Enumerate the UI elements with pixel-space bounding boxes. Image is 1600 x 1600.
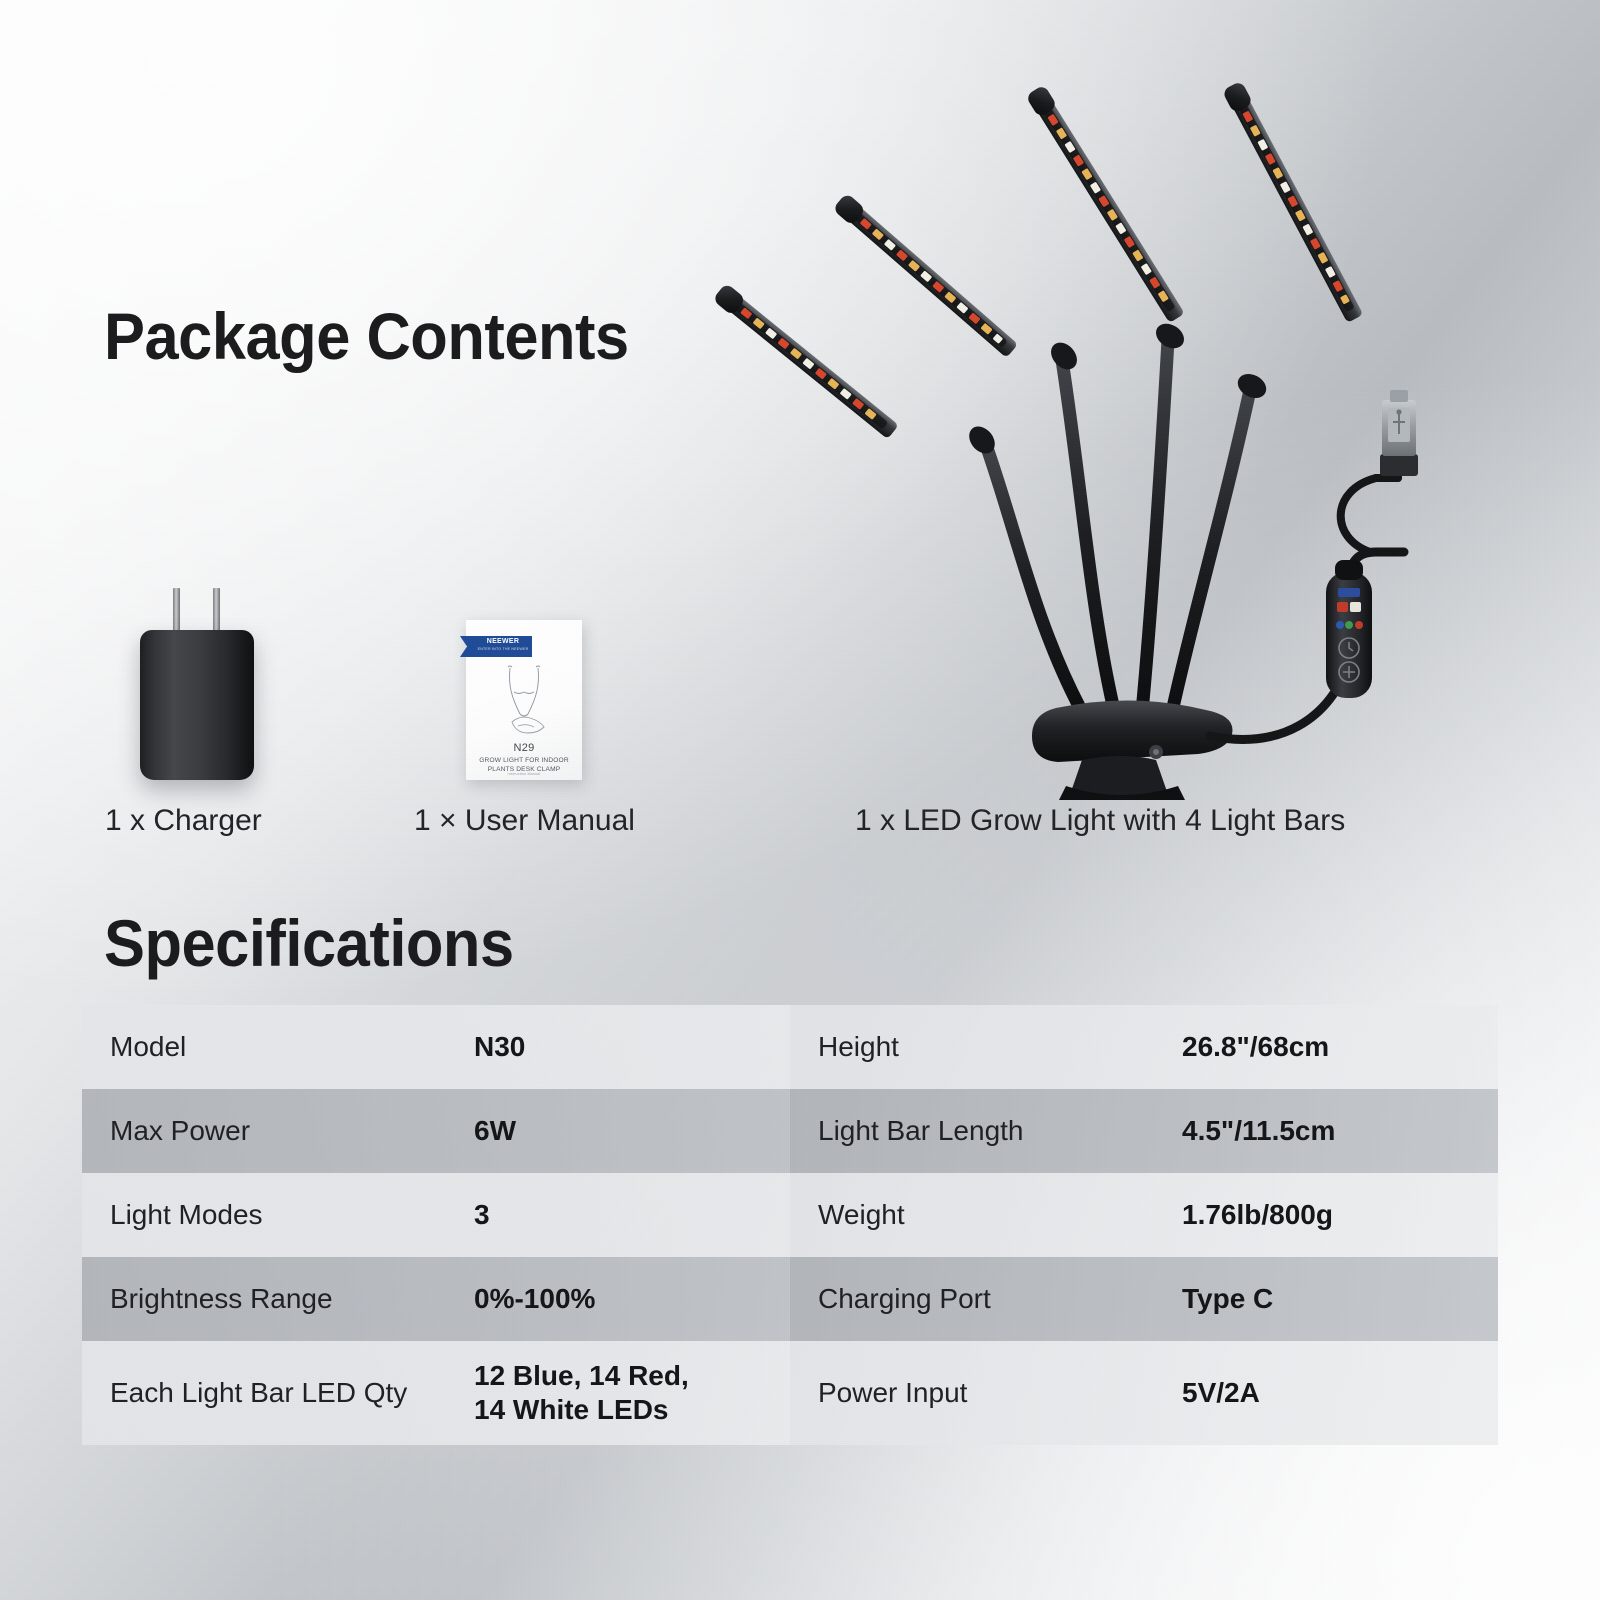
table-row: Weight 1.76lb/800g xyxy=(790,1173,1498,1257)
spec-label: Light Bar Length xyxy=(818,1115,1182,1147)
spec-value: 5V/2A xyxy=(1182,1376,1260,1410)
spec-value: 12 Blue, 14 Red, 14 White LEDs xyxy=(474,1359,689,1427)
manual-model-number: N29 xyxy=(466,742,582,754)
charger-prong-right xyxy=(213,588,220,634)
spec-table-right: Height 26.8"/68cm Light Bar Length 4.5"/… xyxy=(790,1005,1498,1445)
spec-value: Type C xyxy=(1182,1282,1273,1316)
spec-value: 4.5"/11.5cm xyxy=(1182,1114,1335,1148)
spec-label: Power Input xyxy=(818,1377,1182,1409)
spec-value: 6W xyxy=(474,1114,516,1148)
manual-footnote: Instruction Manual xyxy=(472,772,576,776)
table-row: Height 26.8"/68cm xyxy=(790,1005,1498,1089)
manual-brand-tagline: ENTER INTO THE NEEWER xyxy=(476,647,530,651)
spec-label: Height xyxy=(818,1031,1182,1063)
table-row: Light Modes 3 xyxy=(82,1173,790,1257)
spec-label: Brightness Range xyxy=(110,1283,474,1315)
spec-value: 0%-100% xyxy=(474,1282,595,1316)
grow-light-icon xyxy=(690,60,1480,800)
usb-plug-icon xyxy=(1380,390,1418,476)
clamp xyxy=(1032,700,1232,800)
page-title-specifications: Specifications xyxy=(104,905,514,981)
product-infographic: Package Contents 1 x Charger NEEWER ENTE… xyxy=(0,0,1600,1600)
package-item-caption-grow-light: 1 x LED Grow Light with 4 Light Bars xyxy=(855,804,1345,838)
wall-charger-icon xyxy=(140,588,254,780)
table-row: Power Input 5V/2A xyxy=(790,1341,1498,1445)
spec-table-left: Model N30 Max Power 6W Light Modes 3 Bri… xyxy=(82,1005,790,1445)
table-row: Brightness Range 0%-100% xyxy=(82,1257,790,1341)
table-row: Max Power 6W xyxy=(82,1089,790,1173)
booklet-icon: NEEWER ENTER INTO THE NEEWER N29 GROW LI… xyxy=(466,620,582,780)
spec-label: Model xyxy=(110,1031,474,1063)
manual-brand-name: NEEWER xyxy=(476,638,530,646)
page-title-package-contents: Package Contents xyxy=(104,298,629,374)
spec-label: Weight xyxy=(818,1199,1182,1231)
spec-label: Charging Port xyxy=(818,1283,1182,1315)
charger-body xyxy=(140,630,254,780)
charger-prong-left xyxy=(173,588,180,634)
spec-label: Each Light Bar LED Qty xyxy=(110,1377,474,1409)
spec-value: N30 xyxy=(474,1030,525,1064)
controller xyxy=(1326,560,1372,698)
spec-value: 3 xyxy=(474,1198,490,1232)
table-row: Light Bar Length 4.5"/11.5cm xyxy=(790,1089,1498,1173)
spec-label: Light Modes xyxy=(110,1199,474,1231)
package-item-caption-manual: 1 × User Manual xyxy=(414,804,635,838)
spec-label: Max Power xyxy=(110,1115,474,1147)
table-row: Charging Port Type C xyxy=(790,1257,1498,1341)
spec-value: 1.76lb/800g xyxy=(1182,1198,1333,1232)
table-row: Model N30 xyxy=(82,1005,790,1089)
spec-value: 26.8"/68cm xyxy=(1182,1030,1329,1064)
package-item-caption-charger: 1 x Charger xyxy=(105,804,262,838)
table-row: Each Light Bar LED Qty 12 Blue, 14 Red, … xyxy=(82,1341,790,1445)
manual-cover-illustration xyxy=(478,664,570,740)
